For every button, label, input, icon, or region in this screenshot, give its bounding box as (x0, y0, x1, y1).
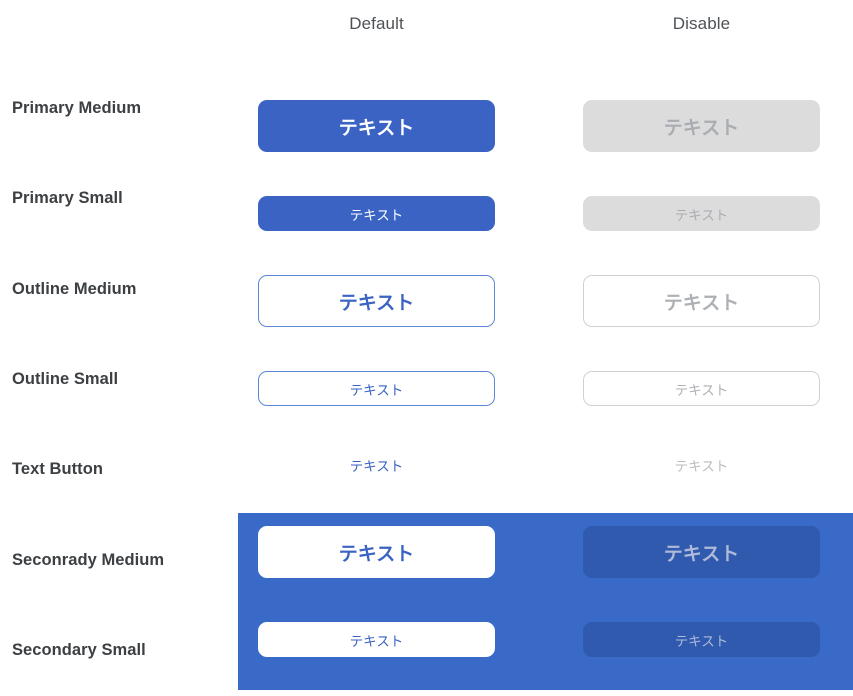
button-secondary-medium-default[interactable]: テキスト (258, 526, 495, 578)
column-header-disable: Disable (583, 14, 820, 34)
button-secondary-medium-disabled: テキスト (583, 526, 820, 578)
row-label-primary-small: Primary Small (12, 189, 242, 208)
row-label-text-button: Text Button (12, 460, 242, 479)
row-label-outline-small: Outline Small (12, 370, 242, 389)
row-label-outline-medium: Outline Medium (12, 280, 242, 299)
cell-text-button-default: テキスト (258, 452, 495, 478)
cell-secondary-medium-default: テキスト (258, 526, 495, 578)
cell-primary-small-disable: テキスト (583, 196, 820, 231)
button-outline-small-default[interactable]: テキスト (258, 371, 495, 406)
cell-outline-medium-default: テキスト (258, 275, 495, 327)
button-specimen-sheet: Default Disable Primary Medium テキスト テキスト… (0, 0, 853, 696)
cell-primary-medium-default: テキスト (258, 100, 495, 152)
button-text-disabled: テキスト (675, 452, 729, 478)
button-outline-small-disabled: テキスト (583, 371, 820, 406)
cell-primary-small-default: テキスト (258, 196, 495, 231)
button-outline-medium-disabled: テキスト (583, 275, 820, 327)
cell-primary-medium-disable: テキスト (583, 100, 820, 152)
cell-secondary-small-disable: テキスト (583, 622, 820, 657)
button-primary-small-default[interactable]: テキスト (258, 196, 495, 231)
button-outline-medium-default[interactable]: テキスト (258, 275, 495, 327)
cell-outline-small-disable: テキスト (583, 371, 820, 406)
row-label-secondary-medium: Seconrady Medium (12, 551, 242, 570)
button-primary-medium-default[interactable]: テキスト (258, 100, 495, 152)
cell-outline-medium-disable: テキスト (583, 275, 820, 327)
button-primary-medium-disabled: テキスト (583, 100, 820, 152)
cell-text-button-disable: テキスト (583, 452, 820, 478)
cell-secondary-medium-disable: テキスト (583, 526, 820, 578)
row-label-primary-medium: Primary Medium (12, 99, 242, 118)
button-text-default[interactable]: テキスト (350, 452, 404, 478)
button-secondary-small-disabled: テキスト (583, 622, 820, 657)
row-label-secondary-small: Secondary Small (12, 641, 242, 660)
column-header-default: Default (258, 14, 495, 34)
button-secondary-small-default[interactable]: テキスト (258, 622, 495, 657)
button-primary-small-disabled: テキスト (583, 196, 820, 231)
cell-outline-small-default: テキスト (258, 371, 495, 406)
cell-secondary-small-default: テキスト (258, 622, 495, 657)
